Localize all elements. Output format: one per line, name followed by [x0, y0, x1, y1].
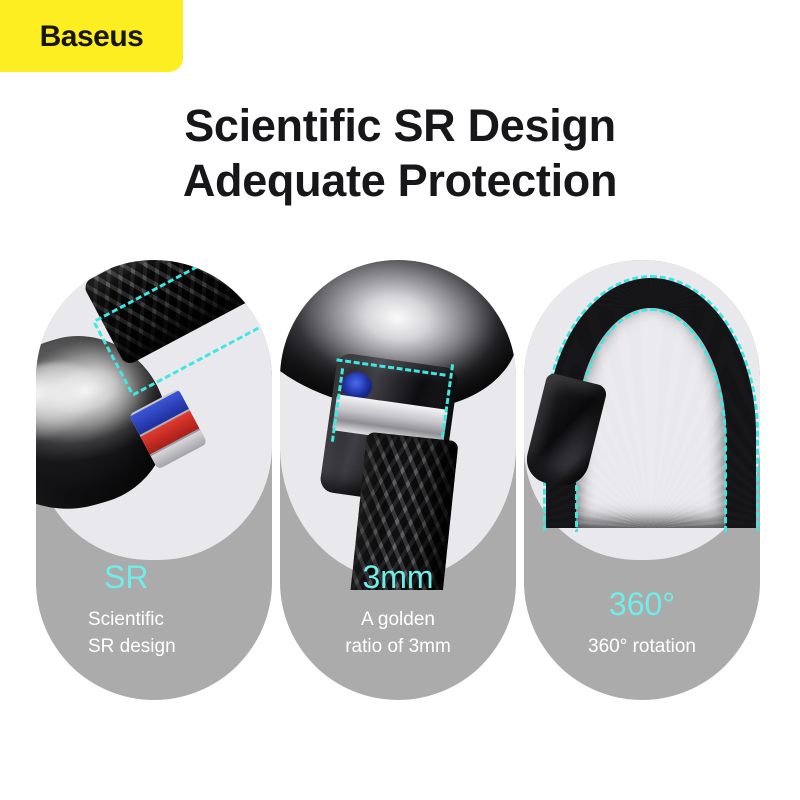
panel-accent-label: SR — [88, 558, 254, 596]
panel-desc-line-1: A golden — [298, 606, 498, 633]
product-photo-rotation — [524, 260, 760, 590]
panel-desc-line-2: ratio of 3mm — [298, 633, 498, 660]
headline-line-2: Adequate Protection — [0, 153, 800, 208]
feature-panel-golden-ratio: 3mm A golden ratio of 3mm — [280, 260, 516, 700]
headline-line-1: Scientific SR Design — [0, 98, 800, 153]
panel-caption-sr-design: SR Scientific SR design — [36, 558, 272, 660]
product-photo-golden-ratio — [280, 260, 516, 590]
brand-badge: Baseus — [0, 0, 183, 72]
brand-name: Baseus — [40, 20, 144, 54]
feature-panels: SR Scientific SR design 3mm A golden rat… — [36, 260, 770, 700]
feature-panel-rotation: 360° 360° rotation — [524, 260, 760, 700]
panel-desc-line-1: 360° rotation — [542, 633, 742, 660]
feature-panel-sr-design: SR Scientific SR design — [36, 260, 272, 700]
panel-caption-golden-ratio: 3mm A golden ratio of 3mm — [280, 558, 516, 660]
panel-desc-line-1: Scientific — [88, 606, 254, 633]
page-title: Scientific SR Design Adequate Protection — [0, 98, 800, 208]
panel-desc-line-2: SR design — [88, 633, 254, 660]
panel-accent-label: 360° — [542, 585, 742, 623]
panel-caption-rotation: 360° 360° rotation — [524, 585, 760, 660]
product-photo-sr-design — [36, 260, 272, 590]
panel-accent-label: 3mm — [298, 558, 498, 596]
